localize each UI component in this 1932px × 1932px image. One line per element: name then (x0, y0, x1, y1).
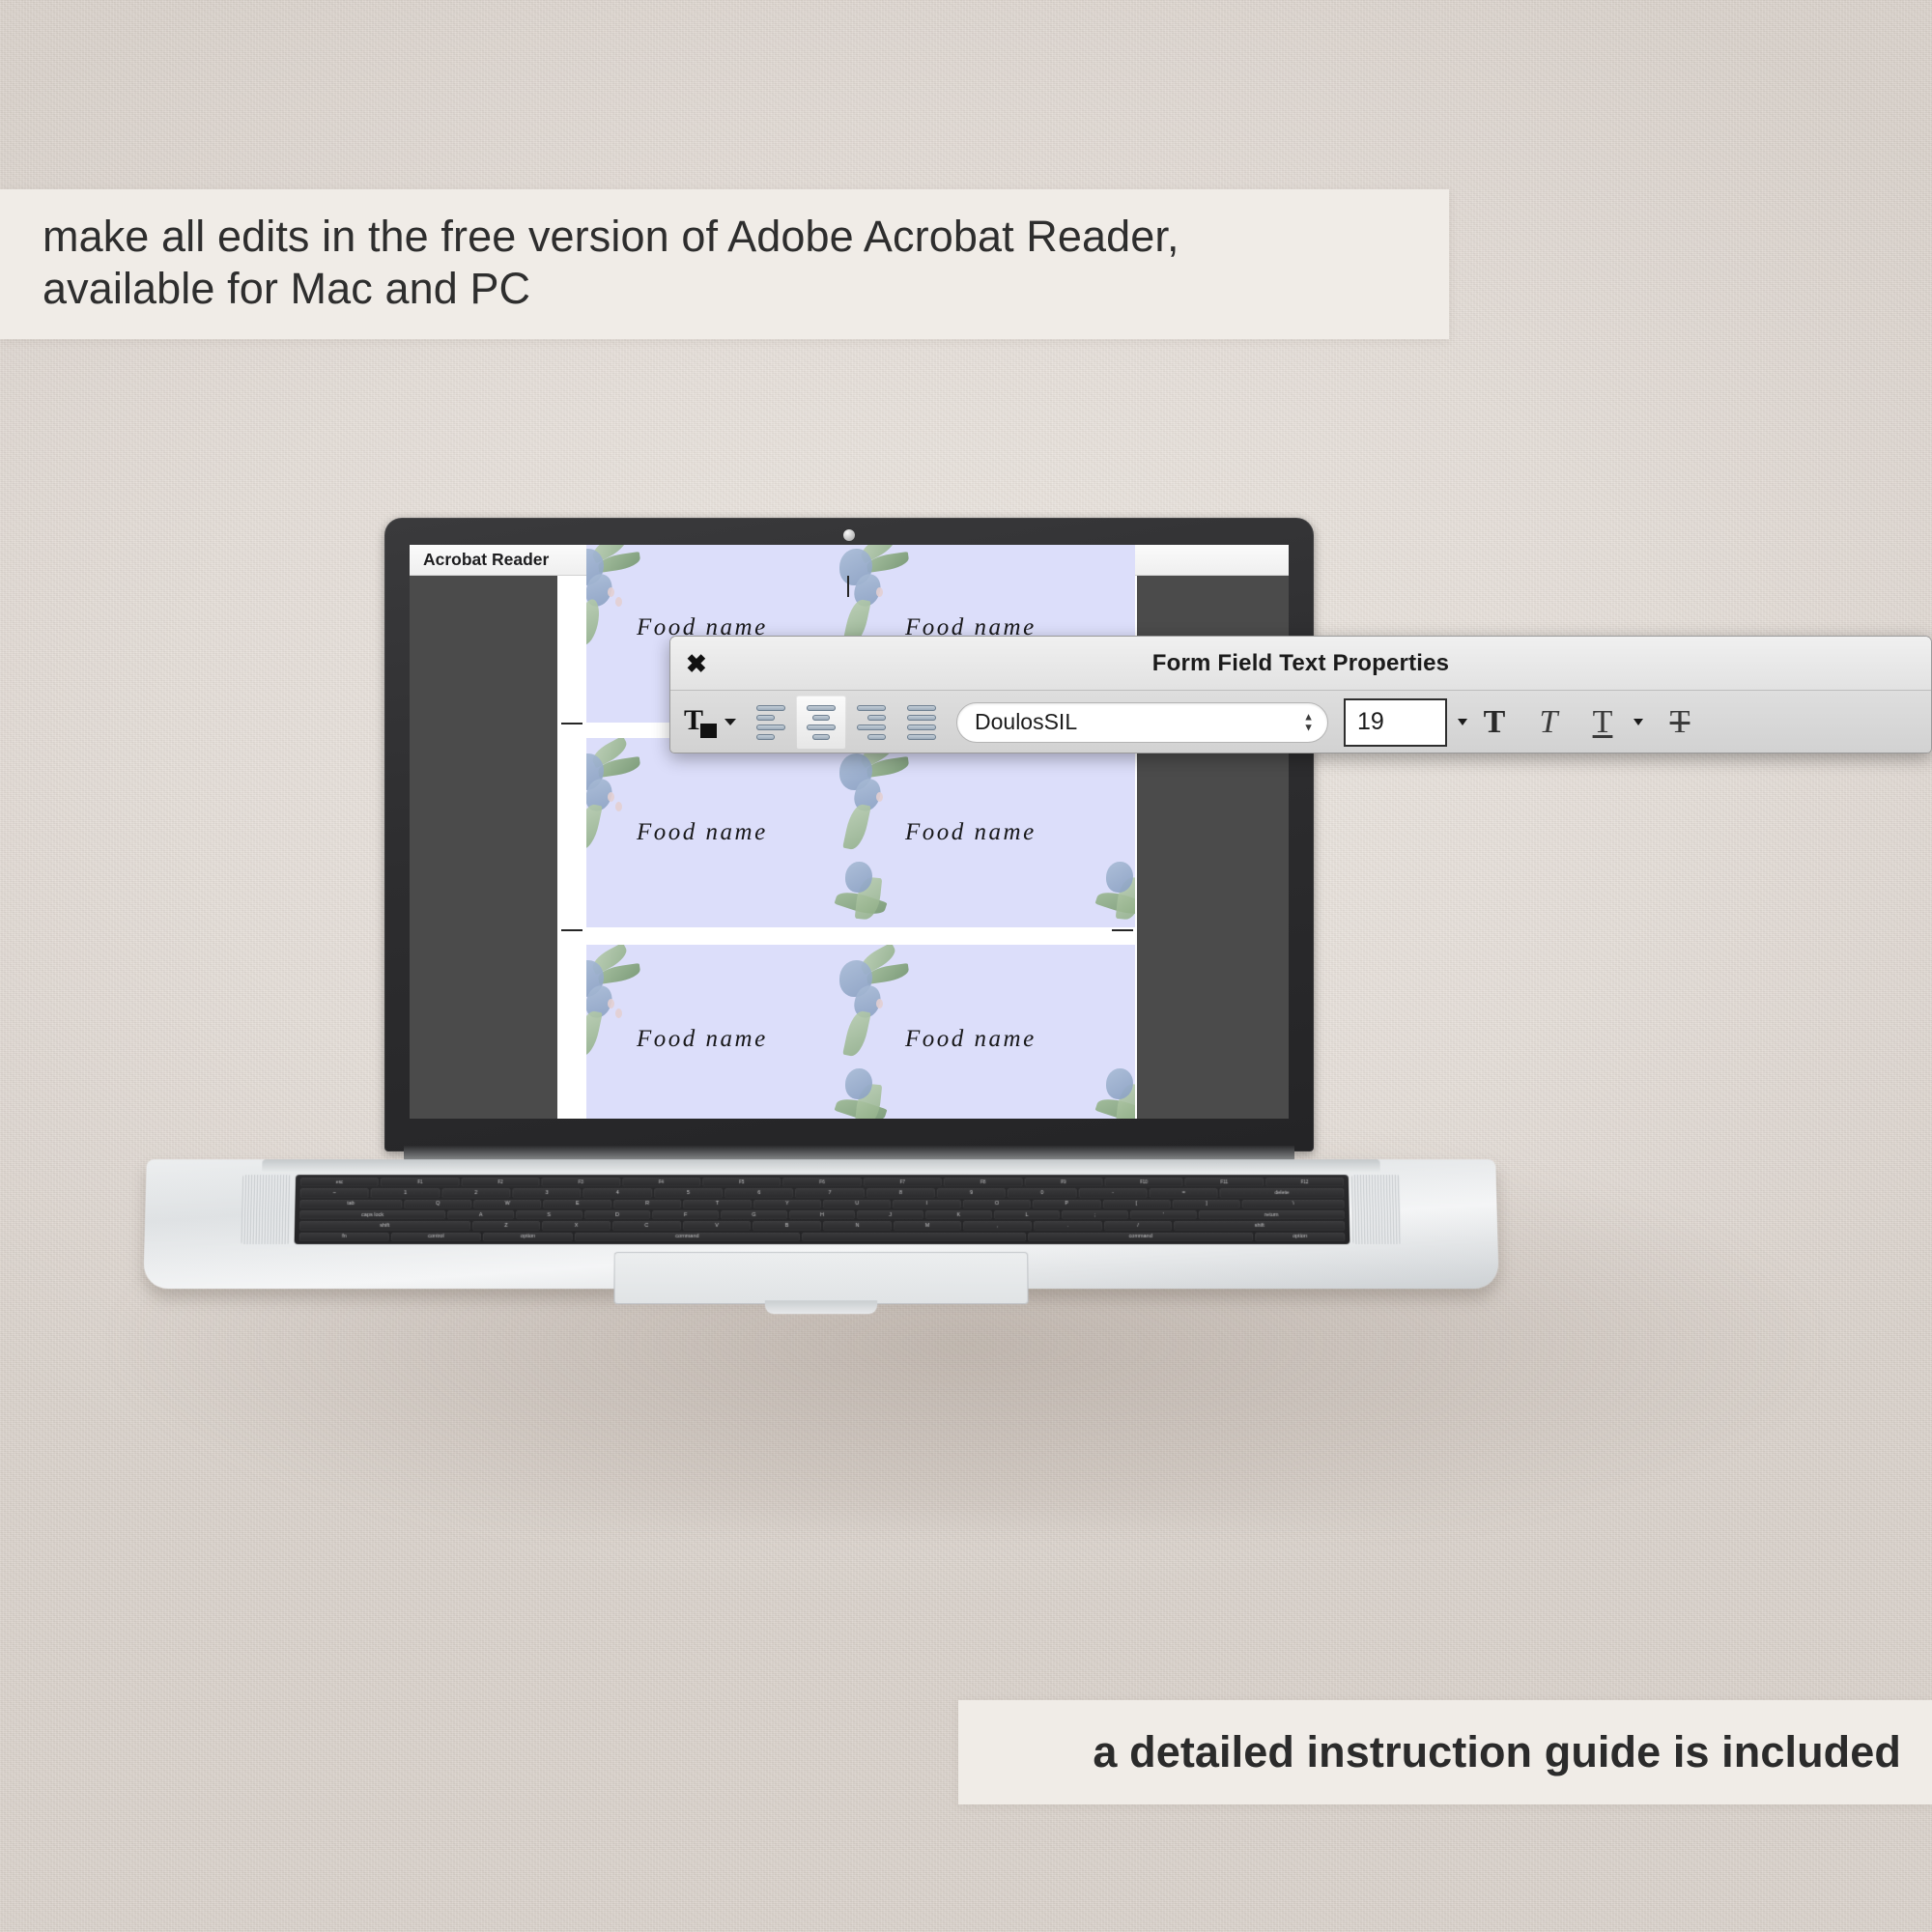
key[interactable]: N (823, 1221, 892, 1230)
key[interactable]: F10 (1104, 1178, 1182, 1186)
crop-mark (561, 929, 582, 931)
key[interactable]: K (925, 1210, 992, 1219)
laptop-base: escF1F2F3F4F5F6F7F8F9F10F11F12 ~12345678… (145, 1146, 1497, 1315)
key[interactable]: M (894, 1221, 962, 1230)
key[interactable]: \ (1242, 1200, 1345, 1208)
speaker-grill-left (241, 1175, 292, 1244)
key[interactable]: 8 (867, 1188, 935, 1197)
keyboard-row-modifiers[interactable]: fncontroloptioncommandcommandoption (299, 1233, 1346, 1241)
key[interactable]: P (1033, 1200, 1100, 1208)
chevron-down-icon[interactable] (724, 719, 736, 725)
lid-open-notch (765, 1300, 877, 1314)
laptop-screen: Acrobat Reader File Edit View Window Hel… (410, 545, 1289, 1119)
key[interactable]: option (483, 1233, 573, 1241)
key[interactable]: U (823, 1200, 891, 1208)
crop-mark (1112, 929, 1133, 931)
key[interactable]: 7 (795, 1188, 864, 1197)
key[interactable]: B (753, 1221, 821, 1230)
top-banner-line-1: make all edits in the free version of Ad… (43, 211, 1406, 263)
align-justify-icon (907, 705, 936, 740)
card-text-right[interactable]: Food name (905, 819, 1037, 846)
card-text-right[interactable]: Food name (905, 1026, 1037, 1053)
key[interactable]: F8 (944, 1178, 1022, 1186)
key[interactable] (802, 1233, 1027, 1241)
top-banner-line-2: available for Mac and PC (43, 263, 1406, 315)
key[interactable]: F6 (782, 1178, 861, 1186)
speaker-grill-right (1351, 1175, 1402, 1244)
key[interactable]: F11 (1185, 1178, 1264, 1186)
top-text-banner: make all edits in the free version of Ad… (0, 189, 1449, 339)
key[interactable]: ; (1062, 1210, 1128, 1219)
stepper-up-icon: ▲ (1303, 713, 1314, 721)
bold-button[interactable]: T (1467, 697, 1521, 748)
align-justify-button[interactable] (896, 696, 947, 750)
key[interactable]: fn (299, 1233, 389, 1241)
key[interactable]: option (1255, 1233, 1345, 1241)
key[interactable]: F2 (461, 1178, 539, 1186)
key[interactable]: shift (299, 1221, 470, 1230)
form-field-text-properties-dialog[interactable]: ✖ Form Field Text Properties T DoulosSIL… (669, 636, 1932, 753)
key[interactable]: 2 (441, 1188, 510, 1197)
key[interactable]: F4 (622, 1178, 700, 1186)
key[interactable]: F (652, 1210, 719, 1219)
font-family-select[interactable]: DoulosSIL ▲ ▼ (956, 702, 1328, 743)
key[interactable]: Z (472, 1221, 541, 1230)
align-center-button[interactable] (796, 696, 846, 750)
font-family-value: DoulosSIL (975, 709, 1077, 735)
card-text-left[interactable]: Food name (637, 819, 768, 846)
key[interactable]: control (391, 1233, 481, 1241)
align-center-icon (807, 705, 836, 740)
key[interactable]: G (721, 1210, 787, 1219)
key[interactable]: V (683, 1221, 752, 1230)
dialog-toolbar: T DoulosSIL ▲ ▼ 19 T T (670, 691, 1931, 753)
crop-mark (561, 723, 582, 724)
food-card-row[interactable]: Food name Food name (586, 738, 1135, 927)
key[interactable]: / (1104, 1221, 1173, 1230)
key[interactable]: A (447, 1210, 514, 1219)
key[interactable]: R (613, 1200, 681, 1208)
key[interactable]: ~ (300, 1188, 369, 1197)
dialog-title-bar: ✖ Form Field Text Properties (670, 637, 1931, 691)
align-right-icon (857, 705, 886, 740)
align-right-button[interactable] (846, 696, 896, 750)
keyboard[interactable]: escF1F2F3F4F5F6F7F8F9F10F11F12 ~12345678… (295, 1175, 1350, 1244)
key[interactable]: F9 (1024, 1178, 1102, 1186)
key[interactable]: 4 (583, 1188, 652, 1197)
key[interactable]: caps lock (299, 1210, 445, 1219)
key[interactable]: S (516, 1210, 582, 1219)
key[interactable]: 0 (1008, 1188, 1076, 1197)
bottom-banner-line-1: a detailed instruction guide is included (1093, 1727, 1901, 1777)
key[interactable]: W (473, 1200, 541, 1208)
key[interactable]: esc (300, 1178, 379, 1186)
card-text-left[interactable]: Food name (637, 1026, 768, 1053)
close-icon[interactable]: ✖ (686, 651, 707, 676)
italic-button[interactable]: T (1521, 697, 1576, 748)
stepper-down-icon: ▼ (1303, 724, 1314, 731)
key[interactable]: 3 (512, 1188, 581, 1197)
key[interactable]: . (1034, 1221, 1102, 1230)
key[interactable]: 6 (724, 1188, 793, 1197)
key[interactable]: I (893, 1200, 960, 1208)
key[interactable]: 9 (937, 1188, 1006, 1197)
crop-mark (847, 576, 849, 597)
laptop-body: escF1F2F3F4F5F6F7F8F9F10F11F12 ~12345678… (143, 1159, 1499, 1289)
trackpad[interactable] (613, 1252, 1028, 1304)
key[interactable]: tab (299, 1200, 402, 1208)
keyboard-row-shift[interactable]: shiftZXCVBNM,./shift (299, 1221, 1345, 1230)
key[interactable]: X (542, 1221, 611, 1230)
key[interactable]: F12 (1265, 1178, 1344, 1186)
key[interactable]: O (963, 1200, 1031, 1208)
key[interactable]: delete (1220, 1188, 1344, 1197)
key[interactable]: 1 (371, 1188, 440, 1197)
key[interactable]: F7 (864, 1178, 942, 1186)
dialog-title: Form Field Text Properties (1152, 650, 1450, 677)
key[interactable]: F1 (381, 1178, 459, 1186)
key[interactable]: return (1199, 1210, 1345, 1219)
key[interactable]: Q (404, 1200, 471, 1208)
key[interactable]: - (1078, 1188, 1147, 1197)
key[interactable]: , (963, 1221, 1032, 1230)
key[interactable]: F5 (702, 1178, 781, 1186)
keyboard-deck-strip (262, 1159, 1380, 1173)
font-size-input[interactable]: 19 (1344, 698, 1447, 747)
key[interactable]: E (544, 1200, 611, 1208)
key[interactable]: T (683, 1200, 751, 1208)
align-left-button[interactable] (746, 696, 796, 750)
key[interactable]: ' (1130, 1210, 1197, 1219)
stepper-icon[interactable]: ▲ ▼ (1303, 713, 1314, 731)
font-size-value: 19 (1357, 708, 1384, 736)
key[interactable]: J (857, 1210, 923, 1219)
underline-button[interactable]: T (1576, 697, 1630, 748)
key[interactable]: command (575, 1233, 800, 1241)
key[interactable]: ] (1173, 1200, 1240, 1208)
key[interactable]: 5 (654, 1188, 723, 1197)
key[interactable]: shift (1174, 1221, 1345, 1230)
key[interactable]: command (1028, 1233, 1253, 1241)
bottom-text-banner: a detailed instruction guide is included (958, 1700, 1932, 1804)
key[interactable]: H (789, 1210, 856, 1219)
key[interactable]: F3 (542, 1178, 620, 1186)
key[interactable]: [ (1102, 1200, 1170, 1208)
underline-dropdown-icon[interactable] (1634, 719, 1643, 725)
text-color-icon: T (684, 707, 717, 738)
key[interactable]: C (612, 1221, 681, 1230)
keyboard-row-function[interactable]: escF1F2F3F4F5F6F7F8F9F10F11F12 (300, 1178, 1344, 1186)
text-color-swatch (700, 724, 717, 738)
text-color-button[interactable]: T (674, 696, 746, 750)
keyboard-row-home[interactable]: caps lockASDFGHJKL;'return (299, 1210, 1345, 1219)
strikethrough-button[interactable]: T (1653, 697, 1707, 748)
key[interactable]: Y (753, 1200, 821, 1208)
menu-item-acrobat-reader[interactable]: Acrobat Reader (423, 552, 570, 569)
key[interactable]: = (1150, 1188, 1218, 1197)
keyboard-row-numbers[interactable]: ~1234567890-=delete (300, 1188, 1345, 1197)
laptop-lid: Acrobat Reader File Edit View Window Hel… (384, 518, 1314, 1151)
webcam-icon (843, 529, 855, 541)
key[interactable]: D (584, 1210, 651, 1219)
keyboard-row-qwerty[interactable]: tabQWERTYUIOP[]\ (299, 1200, 1344, 1208)
food-card-row[interactable]: Food name Food name (586, 945, 1135, 1119)
font-size-dropdown-icon[interactable] (1458, 719, 1467, 725)
key[interactable]: L (994, 1210, 1061, 1219)
align-left-icon (756, 705, 785, 740)
